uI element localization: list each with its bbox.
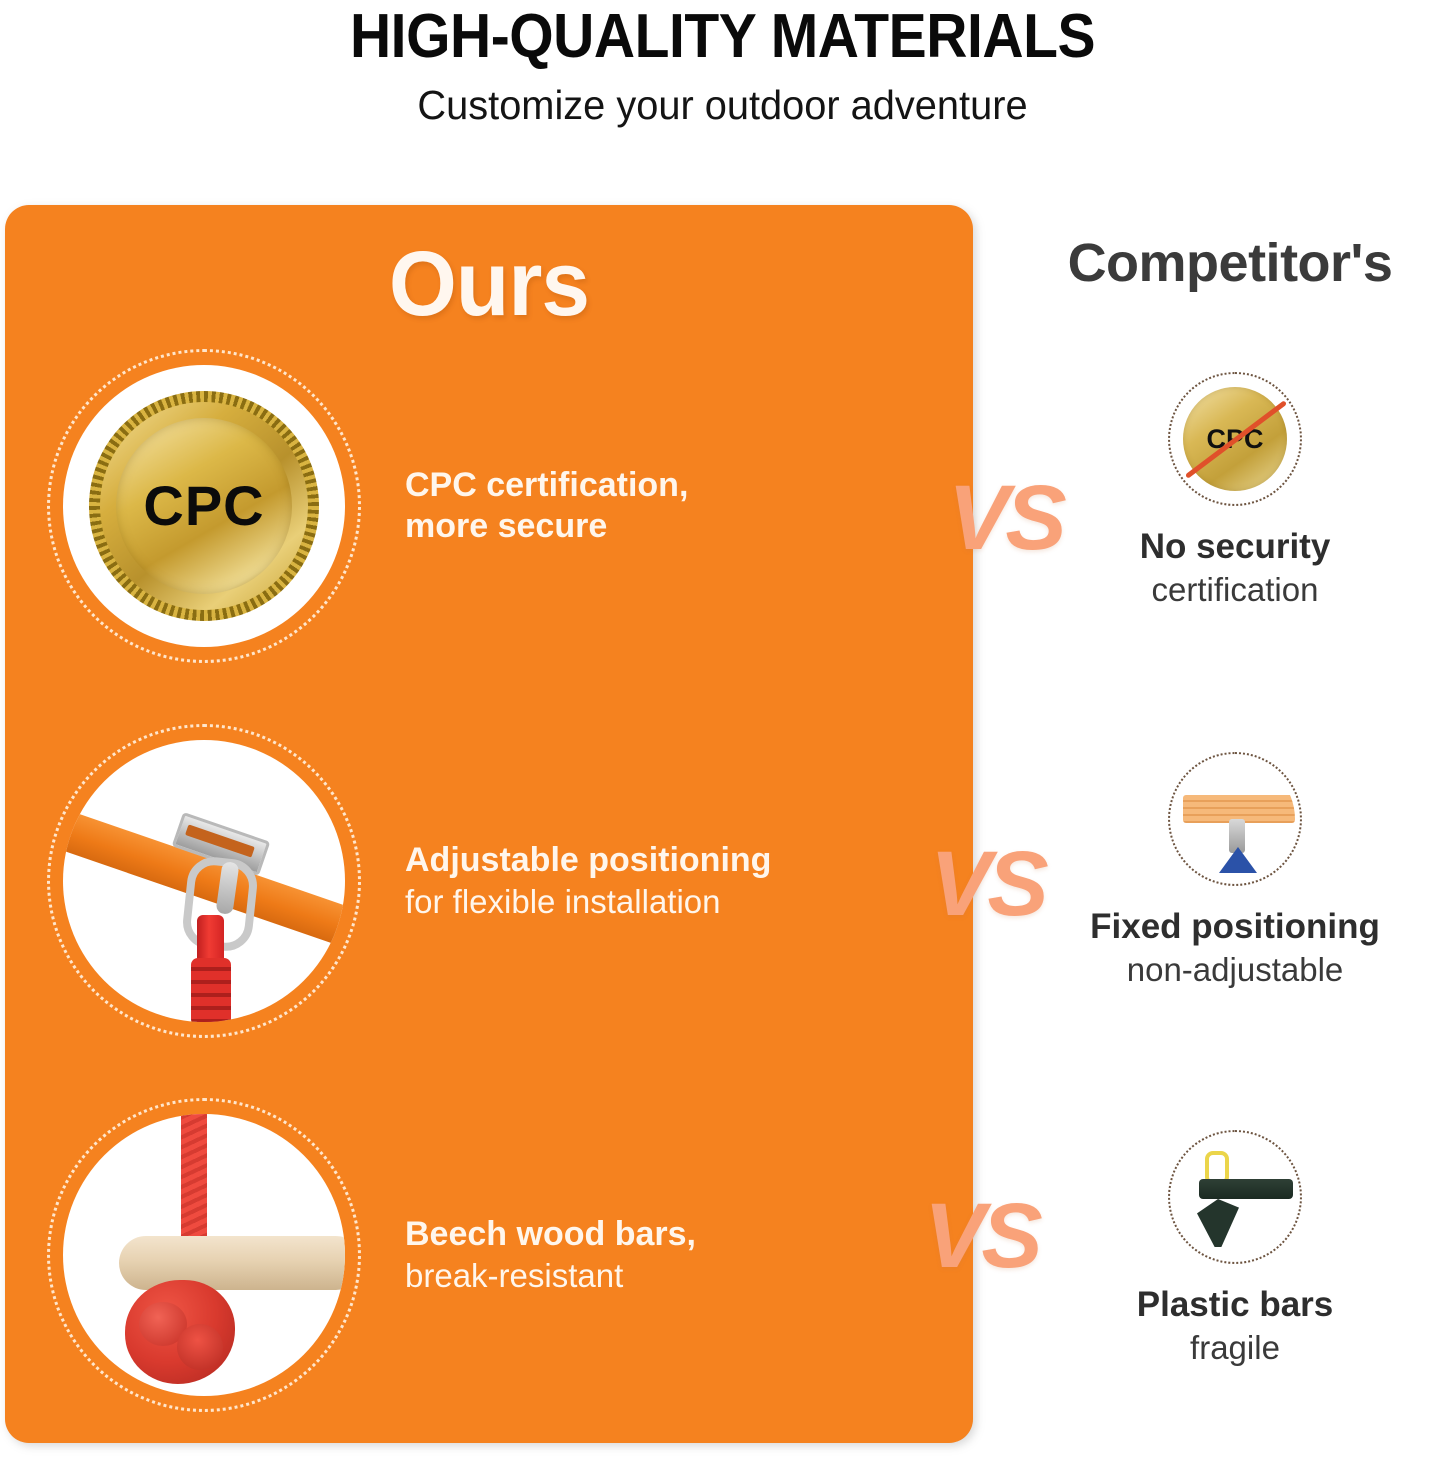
ours-feature-line2: break-resistant <box>405 1256 696 1296</box>
comp-icon-inner <box>1175 759 1295 879</box>
competitor-feature-line2: certification <box>1035 570 1435 610</box>
cpc-medal-crossed-out-icon: CPC <box>1168 372 1302 506</box>
red-rope-vertical <box>181 1114 207 1240</box>
ours-feature-text: Beech wood bars, break-resistant <box>405 1214 696 1296</box>
ours-feature-line2: for flexible installation <box>405 882 771 922</box>
ours-panel-title: Ours <box>29 232 949 337</box>
rope-sleeve <box>191 958 231 1022</box>
photo-inner <box>63 1114 345 1396</box>
comp-plastic-bar <box>1199 1179 1293 1199</box>
page-subtitle: Customize your outdoor adventure <box>22 69 1424 128</box>
competitor-feature-line2: fragile <box>1035 1328 1435 1368</box>
ours-feature-row-wood: Beech wood bars, break-resistant <box>47 1090 947 1420</box>
competitor-feature-line1: Fixed positioning <box>1035 906 1435 948</box>
cpc-gold-medal-icon: CPC <box>47 349 361 663</box>
beech-wood-bar-icon <box>47 1098 361 1412</box>
photo-inner <box>63 740 345 1022</box>
competitor-feature-no-certification: CPC No security certification <box>1035 372 1435 610</box>
strap-carabiner-icon <box>47 724 361 1038</box>
medal-face: CPC <box>116 418 292 594</box>
ours-feature-text: Adjustable positioning for flexible inst… <box>405 840 771 922</box>
ours-feature-line1: Adjustable positioning <box>405 840 771 881</box>
vs-badge: VS <box>948 472 1063 564</box>
competitor-feature-plastic-bars: Plastic bars fragile <box>1035 1130 1435 1368</box>
comp-blue-hook <box>1219 847 1257 873</box>
competitor-feature-line2: non-adjustable <box>1035 950 1435 990</box>
medal-label: CPC <box>143 478 264 534</box>
ours-feature-line1: CPC certification, <box>405 465 688 506</box>
rope-knot <box>125 1280 235 1384</box>
comp-metal-hook <box>1229 819 1245 853</box>
ours-feature-row-cpc: CPC CPC certification, more secure <box>47 341 947 671</box>
beech-bar <box>119 1236 345 1290</box>
ours-panel: Ours CPC CPC certification, more secure <box>5 205 973 1443</box>
ours-feature-line2: more secure <box>405 506 688 547</box>
ours-feature-line1: Beech wood bars, <box>405 1214 696 1255</box>
page-header: HIGH-QUALITY MATERIALS Customize your ou… <box>0 0 1445 128</box>
plastic-bar-icon <box>1168 1130 1302 1264</box>
photo-inner: CPC <box>63 365 345 647</box>
vs-badge: VS <box>924 1190 1039 1282</box>
competitor-feature-fixed-positioning: Fixed positioning non-adjustable <box>1035 752 1435 990</box>
comp-icon-inner <box>1175 1137 1295 1257</box>
page-title: HIGH-QUALITY MATERIALS <box>58 0 1387 69</box>
competitor-title: Competitor's <box>1010 234 1445 293</box>
ours-feature-text: CPC certification, more secure <box>405 465 688 548</box>
comp-dark-bracket <box>1197 1199 1239 1247</box>
fixed-strap-hook-icon <box>1168 752 1302 886</box>
competitor-feature-line1: Plastic bars <box>1035 1284 1435 1326</box>
competitor-feature-line1: No security <box>1035 526 1435 568</box>
vs-badge: VS <box>930 838 1045 930</box>
ours-feature-row-adjustable: Adjustable positioning for flexible inst… <box>47 716 947 1046</box>
buckle-slot <box>185 824 255 857</box>
